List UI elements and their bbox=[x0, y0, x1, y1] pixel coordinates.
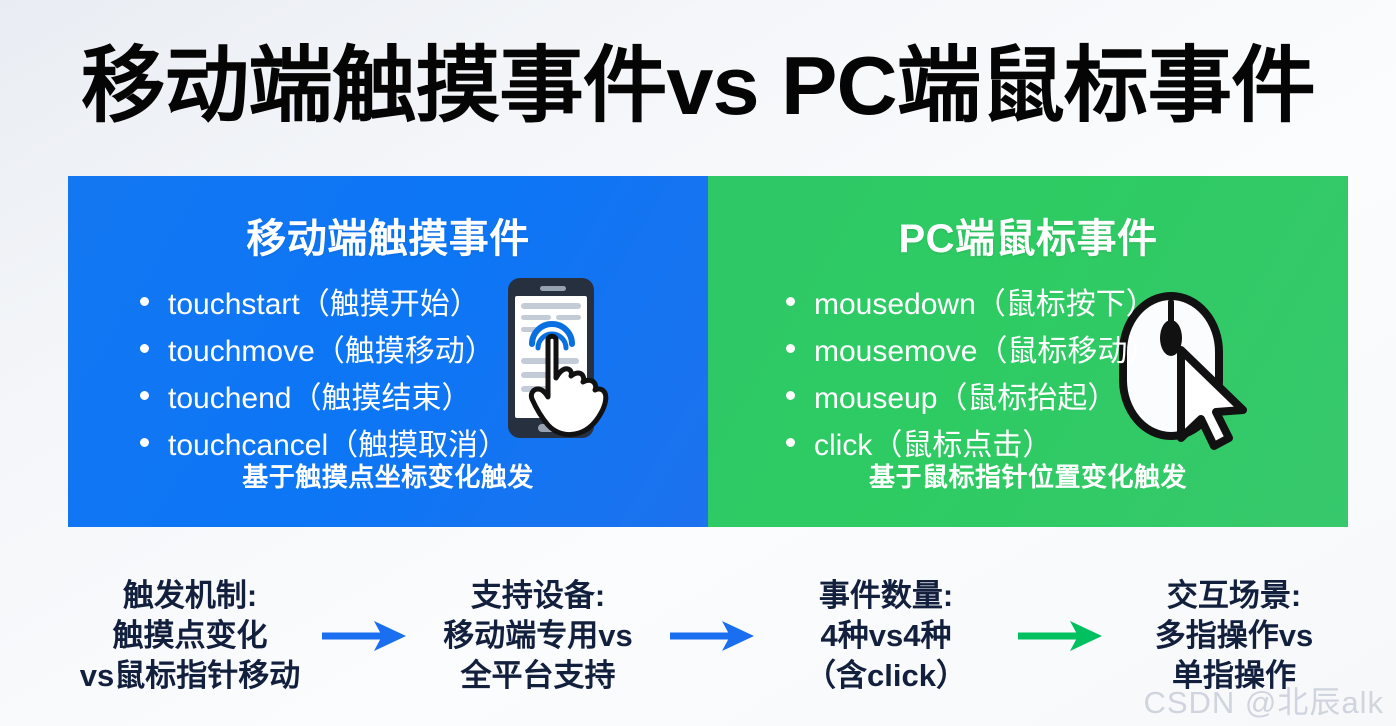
list-item: click（鼠标点击） bbox=[786, 431, 1157, 461]
arrow-right-icon-3 bbox=[1008, 619, 1112, 653]
list-item-label: mousedown（鼠标按下） bbox=[814, 290, 1156, 320]
page-title: 移动端触摸事件vs PC端鼠标事件 bbox=[81, 42, 1315, 129]
compare-line-2: 移动端专用vs bbox=[416, 616, 660, 656]
bullet-dot-icon bbox=[140, 297, 149, 306]
list-item-label: touchend（触摸结束） bbox=[168, 384, 471, 414]
compare-line-2: 触摸点变化 bbox=[68, 616, 312, 656]
list-item: touchend（触摸结束） bbox=[140, 384, 508, 414]
list-item-label: touchmove（触摸移动） bbox=[168, 337, 495, 367]
compare-column-interaction-scenario: 交互场景: 多指操作vs 单指操作 bbox=[1112, 576, 1356, 697]
list-item: mousemove（鼠标移动） bbox=[786, 337, 1157, 367]
panel-pc-mouse-events: PC端鼠标事件 mousedown（鼠标按下） mousemove（鼠标移动） … bbox=[708, 176, 1348, 527]
comparison-summary-row: 触发机制: 触摸点变化 vs鼠标指针移动 支持设备: 移动端专用vs 全平台支持… bbox=[68, 556, 1356, 716]
bullet-dot-icon bbox=[140, 344, 149, 353]
panel-touch-event-list: touchstart（触摸开始） touchmove（触摸移动） touchen… bbox=[140, 290, 508, 478]
compare-label: 支持设备: bbox=[416, 576, 660, 616]
comparison-panels: 移动端触摸事件 touchstart（触摸开始） touchmove（触摸移动）… bbox=[68, 176, 1348, 527]
compare-line-2: 4种vs4种 bbox=[764, 616, 1008, 656]
page-title-container: 移动端触摸事件vs PC端鼠标事件 bbox=[0, 26, 1396, 146]
compare-column-event-count: 事件数量: 4种vs4种 （含click） bbox=[764, 576, 1008, 697]
arrow-right-icon-1 bbox=[312, 619, 416, 653]
compare-line-2: 多指操作vs bbox=[1112, 616, 1356, 656]
arrow-right-icon-2 bbox=[660, 619, 764, 653]
list-item-label: click（鼠标点击） bbox=[814, 431, 1052, 461]
list-item-label: touchstart（触摸开始） bbox=[168, 290, 480, 320]
bullet-dot-icon bbox=[786, 297, 795, 306]
list-item: mouseup（鼠标抬起） bbox=[786, 384, 1157, 414]
compare-column-trigger-mechanism: 触发机制: 触摸点变化 vs鼠标指针移动 bbox=[68, 576, 312, 697]
list-item: touchcancel（触摸取消） bbox=[140, 431, 508, 461]
list-item-label: mousemove（鼠标移动） bbox=[814, 337, 1157, 367]
smartphone-tap-hand-icon bbox=[486, 274, 636, 444]
bullet-dot-icon bbox=[786, 391, 795, 400]
compare-line-3: （含click） bbox=[764, 656, 1008, 696]
list-item: touchmove（触摸移动） bbox=[140, 337, 508, 367]
list-item-label: mouseup（鼠标抬起） bbox=[814, 384, 1117, 414]
bullet-dot-icon bbox=[786, 344, 795, 353]
bullet-dot-icon bbox=[140, 438, 149, 447]
panel-mobile-touch-events: 移动端触摸事件 touchstart（触摸开始） touchmove（触摸移动）… bbox=[68, 176, 708, 527]
compare-label: 交互场景: bbox=[1112, 576, 1356, 616]
bullet-dot-icon bbox=[786, 438, 795, 447]
list-item: mousedown（鼠标按下） bbox=[786, 290, 1157, 320]
panel-mouse-heading: PC端鼠标事件 bbox=[898, 206, 1157, 264]
bullet-dot-icon bbox=[140, 391, 149, 400]
compare-label: 事件数量: bbox=[764, 576, 1008, 616]
compare-line-3: 全平台支持 bbox=[416, 656, 660, 696]
compare-line-3: 单指操作 bbox=[1112, 656, 1356, 696]
list-item: touchstart（触摸开始） bbox=[140, 290, 508, 320]
list-item-label: touchcancel（触摸取消） bbox=[168, 431, 508, 461]
panel-mouse-event-list: mousedown（鼠标按下） mousemove（鼠标移动） mouseup（… bbox=[786, 290, 1157, 478]
compare-line-3: vs鼠标指针移动 bbox=[68, 656, 312, 696]
compare-label: 触发机制: bbox=[68, 576, 312, 616]
panel-touch-heading: 移动端触摸事件 bbox=[246, 206, 530, 264]
compare-column-supported-devices: 支持设备: 移动端专用vs 全平台支持 bbox=[416, 576, 660, 697]
